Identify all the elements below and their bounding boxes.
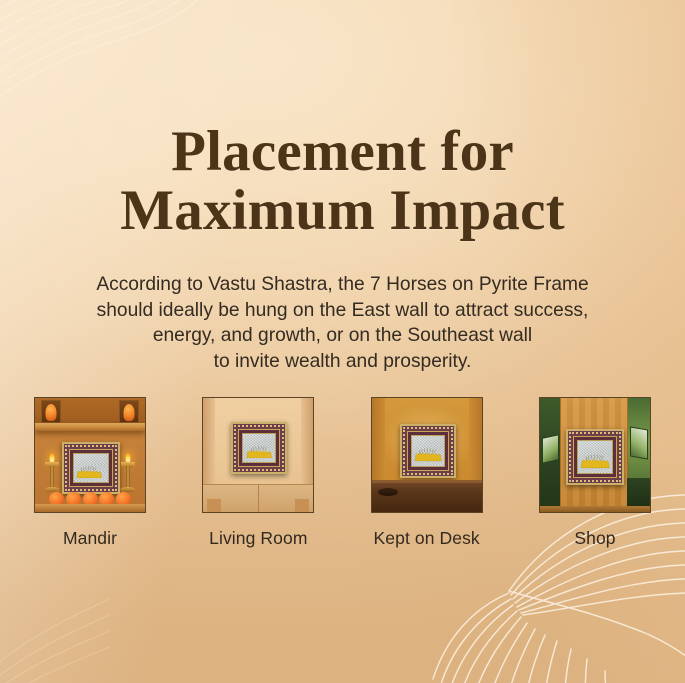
placement-caption: Shop [574,528,615,549]
placement-caption: Mandir [63,528,117,549]
mandir-niche-left [41,400,61,423]
description-line-1: According to Vastu Shastra, the 7 Horses… [30,272,655,298]
seven-horses-icon [579,452,612,469]
seven-horses-icon [245,444,274,459]
placement-item-living-room[interactable]: Living Room [202,397,314,549]
artwork-canvas [577,440,613,474]
oil-lamp-left-icon [44,456,60,492]
thumbnail-shop[interactable] [539,397,651,513]
framed-artwork [231,422,287,474]
artwork-canvas [411,435,445,467]
shop-floor [540,506,650,512]
description-line-3: energy, and growth, or on the Southeast … [30,323,655,349]
framed-artwork [566,429,624,485]
idol-icon [124,404,135,421]
placement-caption: Kept on Desk [374,528,480,549]
desk-object [378,488,398,496]
page-title-line-1: Placement for [171,120,514,183]
idol-icon [46,404,57,421]
thumbnail-mandir[interactable] [34,397,146,513]
sofa [203,484,313,512]
description-line-2: should ideally be hung on the East wall … [30,298,655,324]
mandir-shelf [35,423,145,431]
placement-item-mandir[interactable]: Mandir [34,397,146,549]
shop-merchandise-left [542,434,559,464]
artwork-canvas [73,453,109,483]
placement-item-kept-on-desk[interactable]: Kept on Desk [371,397,483,549]
oil-lamp-right-icon [120,456,136,492]
shop-merchandise-right [630,426,648,459]
mandir-floor [35,504,145,512]
page-title: Placement for Maximum Impact [0,122,685,240]
placement-item-shop[interactable]: Shop [539,397,651,549]
framed-artwork [62,442,120,494]
page-title-line-2: Maximum Impact [0,181,685,240]
desk-surface [372,480,482,512]
vastu-placement-poster: Placement for Maximum Impact According t… [0,0,685,683]
placement-caption: Living Room [209,528,307,549]
placement-gallery: Mandir [34,397,651,549]
description-line-4: to invite wealth and prosperity. [30,349,655,375]
thumbnail-kept-on-desk[interactable] [371,397,483,513]
artwork-canvas [242,433,276,463]
description-text: According to Vastu Shastra, the 7 Horses… [30,272,655,374]
mandir-niche-right [119,400,139,423]
framed-artwork [400,424,456,478]
thumbnail-living-room[interactable] [202,397,314,513]
seven-horses-icon [75,464,104,479]
seven-horses-icon [413,446,444,462]
